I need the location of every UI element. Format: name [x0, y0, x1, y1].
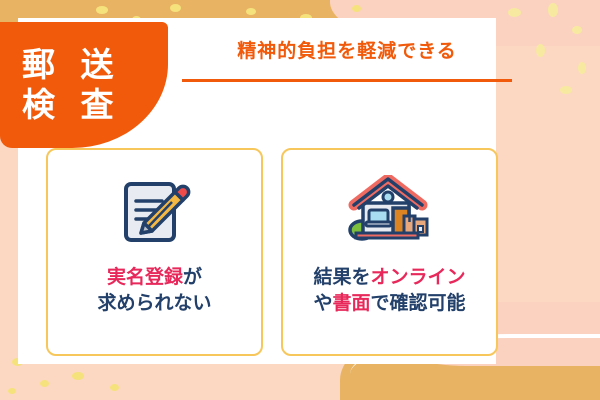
caption-plain: 求められない [97, 292, 211, 314]
confetti-dot [578, 62, 586, 74]
badge-line-2: 検 査 [22, 85, 121, 125]
feature-card-caption: 結果をオンライン や書面で確認可能 [313, 264, 465, 316]
caption-plain: で確認可能 [371, 292, 466, 314]
page-title: 精神的負担を軽減できる [178, 36, 516, 63]
confetti-dot [72, 372, 84, 380]
house-online-icon [344, 172, 436, 252]
caption-line-1: 結果をオンライン [313, 264, 465, 290]
title-underline [182, 79, 512, 82]
feature-card-list: 実名登録が 求められない [46, 148, 498, 356]
badge-line-1: 郵 送 [22, 45, 121, 85]
confetti-dot [8, 388, 16, 394]
confetti-dot [352, 5, 361, 12]
caption-highlight: 書面 [332, 292, 370, 314]
caption-plain: や [313, 292, 332, 314]
caption-line-2: や書面で確認可能 [313, 290, 465, 316]
caption-highlight: オンライン [370, 266, 465, 288]
confetti-dot [40, 380, 49, 387]
feature-card-real-name[interactable]: 実名登録が 求められない [46, 148, 263, 356]
caption-plain: 結果を [313, 266, 370, 288]
caption-line-2: 求められない [97, 290, 211, 316]
caption-highlight: 実名登録 [107, 266, 183, 288]
caption-line-1: 実名登録が [97, 264, 211, 290]
confetti-dot [560, 86, 572, 94]
feature-card-caption: 実名登録が 求められない [97, 264, 211, 316]
confetti-dot [110, 384, 119, 391]
confetti-dot [508, 8, 521, 17]
feature-card-online-results[interactable]: 結果をオンライン や書面で確認可能 [281, 148, 498, 356]
infographic-canvas: 精神的負担を軽減できる 郵 送 検 査 [0, 0, 600, 400]
document-pencil-icon [109, 172, 201, 252]
confetti-dot [572, 26, 582, 34]
confetti-dot [170, 4, 181, 12]
confetti-dot [96, 6, 108, 14]
caption-plain: が [183, 266, 202, 288]
confetti-dot [536, 44, 545, 57]
confetti-dot [246, 8, 256, 15]
confetti-dot [548, 3, 558, 17]
